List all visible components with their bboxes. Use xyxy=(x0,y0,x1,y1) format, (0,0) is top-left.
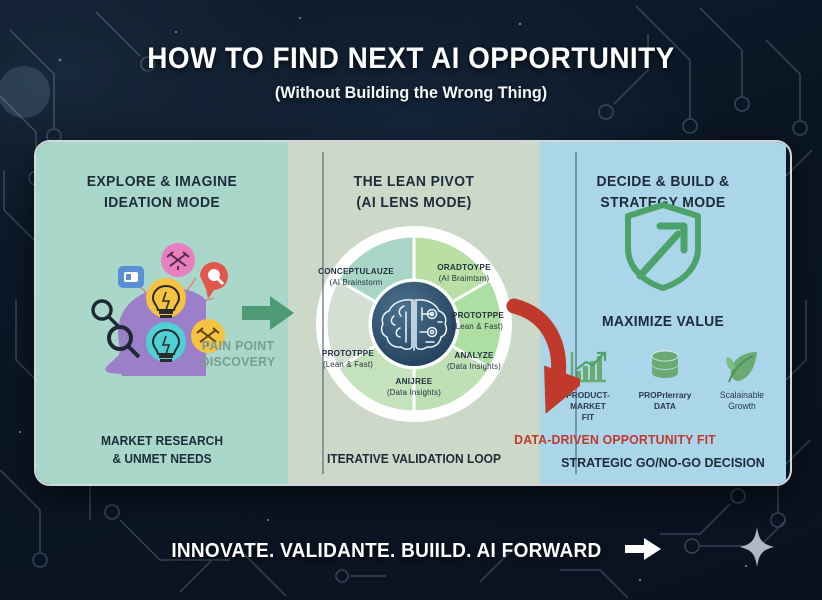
pillar-2-caption: Scalainable Growth xyxy=(705,390,779,413)
segment-0-title: CONCEPTULAUZE xyxy=(318,266,394,276)
shield-growth-arrow-icon xyxy=(620,200,706,297)
donut-segment-label-4: ANIJREE (Data Insights) xyxy=(369,376,458,398)
panel-mid-footer: ITERATIVE VALIDATION LOOP xyxy=(293,451,535,469)
data-driven-opportunity-fit-label: DATA-DRIVEN OPPORTUNITY FIT xyxy=(461,432,768,447)
donut-segment-label-0: CONCEPTULAUZE (AI Brainstorm xyxy=(311,266,400,288)
panel-left-footer-line1: MARKET RESEARCH xyxy=(101,434,223,448)
pain-point-discovery-label: PAIN POINT DISCOVERY xyxy=(194,338,281,371)
leaf-growth-icon xyxy=(704,346,780,388)
pain-label-line1: PAIN POINT xyxy=(202,338,275,353)
pillar-0-line2: FIT xyxy=(582,412,595,422)
footer-banner-text: INNOVATE. VALIDANTE. BUIILD. AI FORWARD xyxy=(171,540,601,563)
donut-segment-label-1: ORADTOYPE (AI Braimtsm) xyxy=(419,262,508,284)
segment-5-sub: (Lean & Fast) xyxy=(303,360,392,370)
page-subtitle: (Without Building the Wrong Thing) xyxy=(21,83,802,103)
value-pillars-row: PRODUCT-MARKET FIT xyxy=(550,346,780,423)
green-right-arrow-icon xyxy=(240,294,296,337)
white-right-arrow-icon xyxy=(624,537,662,566)
panel-mid-heading-line1: THE LEAN PIVOT xyxy=(354,174,475,190)
segment-4-title: ANIJREE xyxy=(396,376,433,386)
panel-mid-heading-line2: (AI LENS MODE) xyxy=(356,195,471,211)
page-title: HOW TO FIND NEXT AI OPPORTUNITY xyxy=(29,42,793,76)
panel-left-heading-line2: IDEATION MODE xyxy=(104,195,220,211)
panel-left-heading-line1: EXPLORE & IMAGINE xyxy=(87,174,237,190)
pillar-proprietary-data: PROPrIerrary DATA xyxy=(627,346,703,412)
pillar-1-line2: DATA xyxy=(654,401,676,411)
segment-1-sub: (AI Braimtsm) xyxy=(419,274,508,284)
panel-right-footer: STRATEGIC GO/NO-GO DECISION xyxy=(545,454,781,472)
four-point-star-icon xyxy=(740,527,774,572)
footer-banner: INNOVATE. VALIDANTE. BUIILD. AI FORWARD xyxy=(0,537,822,566)
segment-5-title: PROTOTPPE xyxy=(322,348,374,358)
database-stack-icon xyxy=(627,346,703,388)
pillar-2-line2: Growth xyxy=(728,401,756,411)
donut-segment-label-5: PROTOTPPE (Lean & Fast) xyxy=(303,348,392,370)
infographic-canvas: HOW TO FIND NEXT AI OPPORTUNITY (Without… xyxy=(0,0,822,600)
maximize-value-label: MAXIMIZE VALUE xyxy=(545,314,781,330)
pain-label-line2: DISCOVERY xyxy=(201,354,276,369)
title-block: HOW TO FIND NEXT AI OPPORTUNITY (Without… xyxy=(0,42,822,103)
pillar-2-line1: Scalainable xyxy=(720,390,764,400)
segment-1-title: ORADTOYPE xyxy=(437,262,491,272)
iterative-validation-donut-chart: CONCEPTULAUZE (AI Brainstorm ORADTOYPE (… xyxy=(314,224,514,424)
panel-left-heading: EXPLORE & IMAGINE IDEATION MODE xyxy=(41,172,283,214)
panel-mid-heading: THE LEAN PIVOT (AI LENS MODE) xyxy=(293,172,535,214)
pillar-1-caption: PROPrIerrary DATA xyxy=(628,390,702,412)
panel-explore-imagine: EXPLORE & IMAGINE IDEATION MODE xyxy=(36,142,288,484)
red-curved-down-arrow-icon xyxy=(500,298,580,433)
segment-3-title: ANALYZE xyxy=(454,350,493,360)
segment-2-title: PROTOTPPE xyxy=(452,310,504,320)
segment-0-sub: (AI Brainstorm xyxy=(311,278,400,288)
panel-left-footer: MARKET RESEARCH & UNMET NEEDS xyxy=(41,433,283,468)
pillar-scalable-growth: Scalainable Growth xyxy=(704,346,780,413)
segment-4-sub: (Data Insights) xyxy=(369,388,458,398)
panel-divider-left xyxy=(322,152,324,474)
panel-left-footer-line2: & UNMET NEEDS xyxy=(112,452,211,466)
panel-right-heading-line1: DECIDE & BUILD & xyxy=(597,174,730,190)
pillar-1-line1: PROPrIerrary xyxy=(639,390,692,400)
